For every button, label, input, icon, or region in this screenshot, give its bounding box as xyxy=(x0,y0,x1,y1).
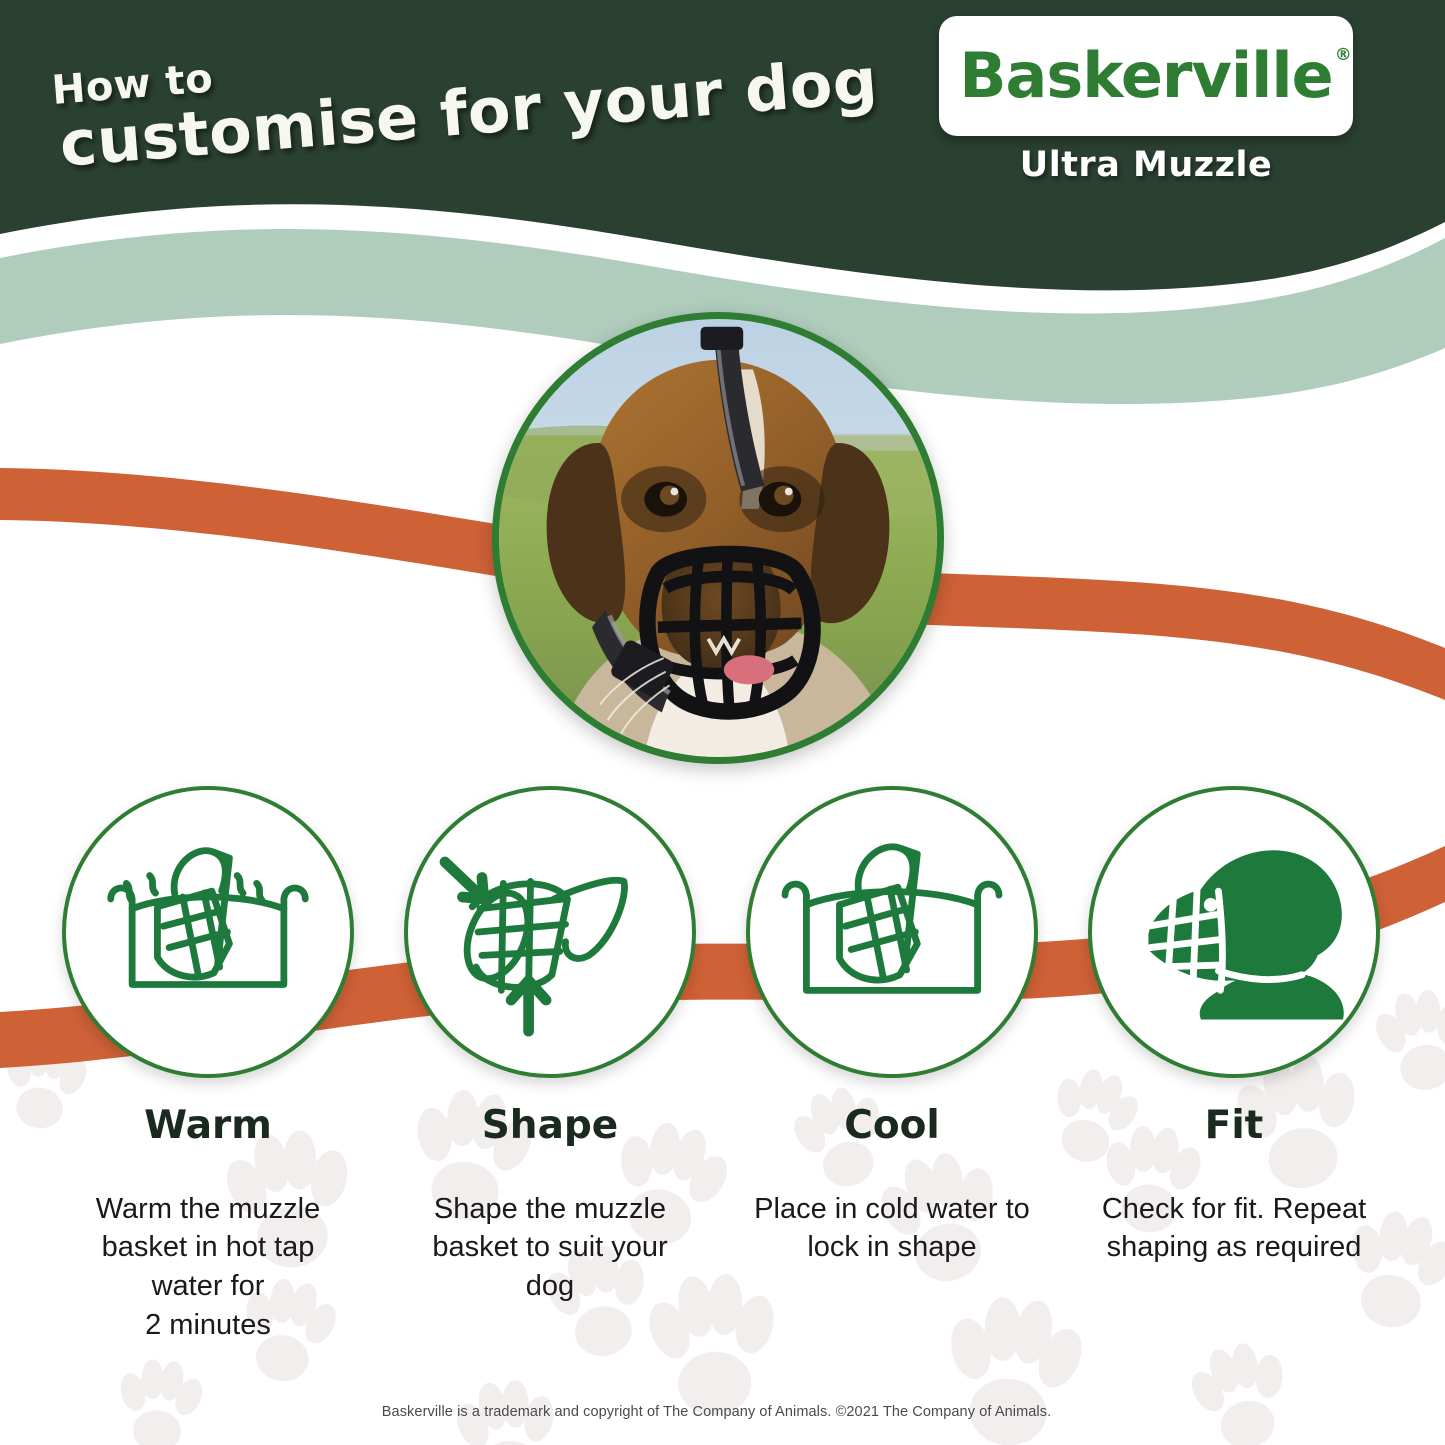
step-circle-cool[interactable] xyxy=(746,786,1038,1078)
caption-title-warm: Warm xyxy=(38,1105,378,1148)
step-circle-shape[interactable] xyxy=(404,786,696,1078)
caption-title-fit: Fit xyxy=(1064,1105,1404,1148)
caption-body-cool: Place in cold water to lock in shape xyxy=(722,1190,1062,1267)
caption-title-shape: Shape xyxy=(380,1105,720,1148)
caption-body-warm: Warm the muzzle basket in hot tap water … xyxy=(38,1190,378,1344)
caption-fit: Fit Check for fit. Repeat shaping as req… xyxy=(1064,1105,1404,1267)
caption-body-fit: Check for fit. Repeat shaping as require… xyxy=(1064,1190,1404,1267)
step-captions-row: Warm Warm the muzzle basket in hot tap w… xyxy=(0,1105,1445,1355)
footer-copyright: Baskerville is a trademark and copyright… xyxy=(0,1404,1445,1420)
hero-dog-photo xyxy=(492,312,944,764)
step-circle-fit[interactable] xyxy=(1088,786,1380,1078)
step-circle-warm[interactable] xyxy=(62,786,354,1078)
caption-body-shape: Shape the muzzle basket to suit your dog xyxy=(380,1190,720,1306)
caption-shape: Shape Shape the muzzle basket to suit yo… xyxy=(380,1105,720,1306)
step-icons-row xyxy=(0,786,1445,1086)
caption-warm: Warm Warm the muzzle basket in hot tap w… xyxy=(38,1105,378,1344)
caption-cool: Cool Place in cold water to lock in shap… xyxy=(722,1105,1062,1267)
caption-title-cool: Cool xyxy=(722,1105,1062,1148)
infographic-canvas: How to customise for your dog Baskervill… xyxy=(0,0,1445,1445)
